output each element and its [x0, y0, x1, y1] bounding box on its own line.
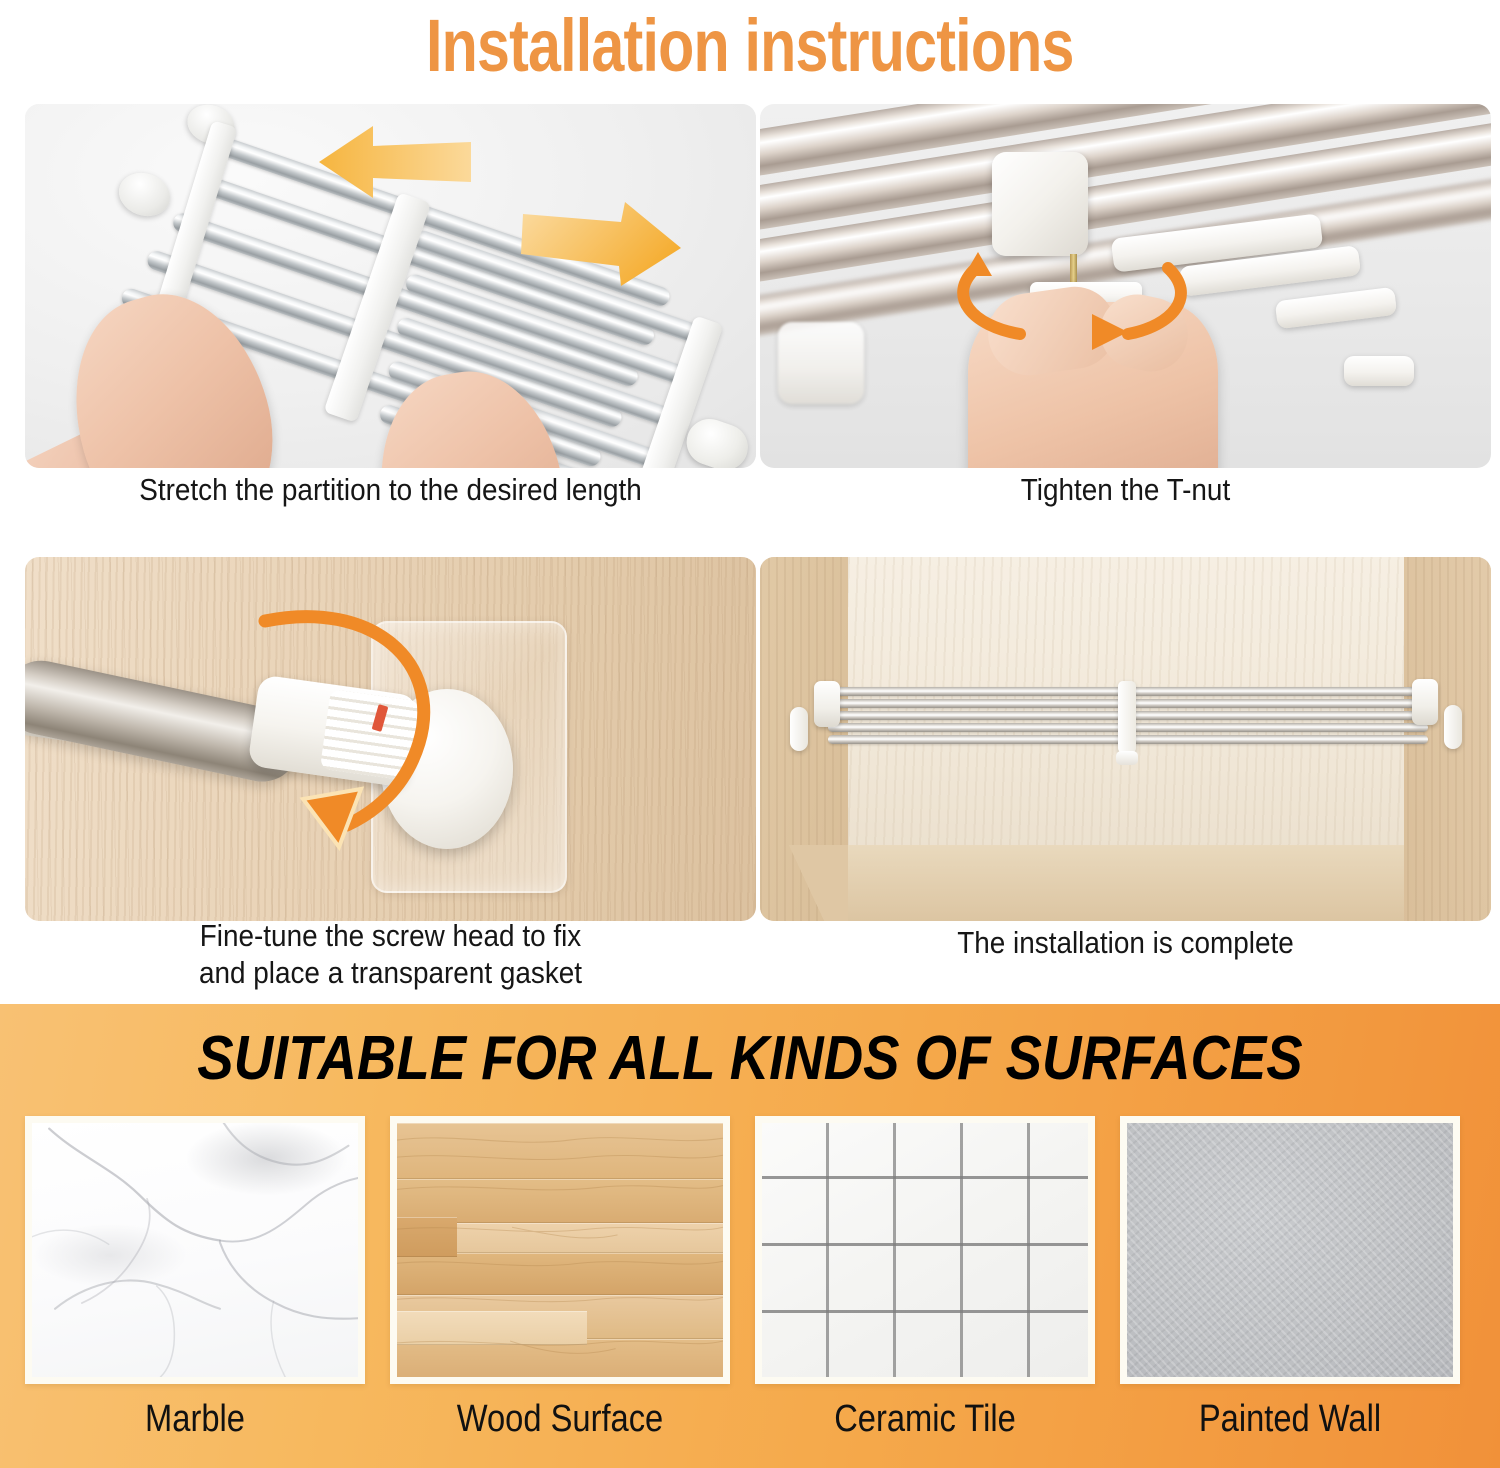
surface-item-wood: Wood Surface: [390, 1116, 730, 1441]
installed-shelf: [788, 685, 1464, 749]
t-nut: [1116, 751, 1138, 765]
step-2: Tighten the T-nut: [760, 104, 1491, 541]
surfaces-banner-title: SUITABLE FOR ALL KINDS OF SURFACES: [90, 1026, 1410, 1091]
wall-mount-disc: [790, 707, 808, 751]
rod-clamp: [1275, 287, 1398, 329]
marble-swatch: [25, 1116, 365, 1384]
surface-item-marble: Marble: [25, 1116, 365, 1441]
wood-grain-icon: [397, 1123, 723, 1377]
wall-mount-disc: [1444, 705, 1462, 749]
rod-clamp: [1344, 356, 1414, 386]
step-caption: Fine-tune the screw head to fix and plac…: [62, 917, 720, 991]
step-1: Stretch the partition to the desired len…: [25, 104, 756, 541]
installation-steps-grid: Stretch the partition to the desired len…: [25, 104, 1491, 994]
white-collar: [992, 152, 1088, 256]
shelf-bracket: [1412, 679, 1438, 725]
marble-veins-icon: [32, 1123, 358, 1377]
step-3: Fine-tune the screw head to fix and plac…: [25, 557, 756, 994]
tighten-t-nut-photo: [760, 104, 1491, 468]
surface-label: Marble: [49, 1398, 341, 1441]
ceramic-tile-swatch: [755, 1116, 1095, 1384]
rotate-arrow-icon: [942, 242, 1202, 352]
cabinet-floor: [848, 845, 1404, 921]
rack-end-cap: [113, 166, 176, 223]
painted-wall-swatch: [1120, 1116, 1460, 1384]
arrow-right-icon: [521, 198, 685, 290]
surface-label: Painted Wall: [1144, 1398, 1436, 1441]
surface-label: Wood Surface: [414, 1398, 706, 1441]
surface-label: Ceramic Tile: [779, 1398, 1071, 1441]
fine-tune-screw-head-photo: [25, 557, 756, 921]
suitable-surfaces-section: SUITABLE FOR ALL KINDS OF SURFACES: [0, 1004, 1500, 1468]
surface-item-wall: Painted Wall: [1120, 1116, 1460, 1441]
stretch-partition-photo: [25, 104, 756, 468]
rod-end-cap: [778, 322, 864, 404]
step-caption: The installation is complete: [797, 925, 1455, 962]
shelf-center-brace: [1118, 681, 1136, 753]
arrow-left-icon: [315, 120, 475, 206]
step-caption: Stretch the partition to the desired len…: [62, 472, 720, 509]
wood-surface-swatch: [390, 1116, 730, 1384]
surface-swatch-row: Marble: [25, 1116, 1475, 1441]
rotate-arrow-icon: [243, 593, 463, 863]
page-title: Installation instructions: [426, 9, 1074, 83]
step-caption: Tighten the T-nut: [797, 472, 1455, 509]
page-header: Installation instructions: [0, 0, 1500, 92]
step-4: The installation is complete: [760, 557, 1491, 994]
shelf-bracket: [814, 681, 840, 727]
surface-item-tile: Ceramic Tile: [755, 1116, 1095, 1441]
installation-complete-photo: [760, 557, 1491, 921]
